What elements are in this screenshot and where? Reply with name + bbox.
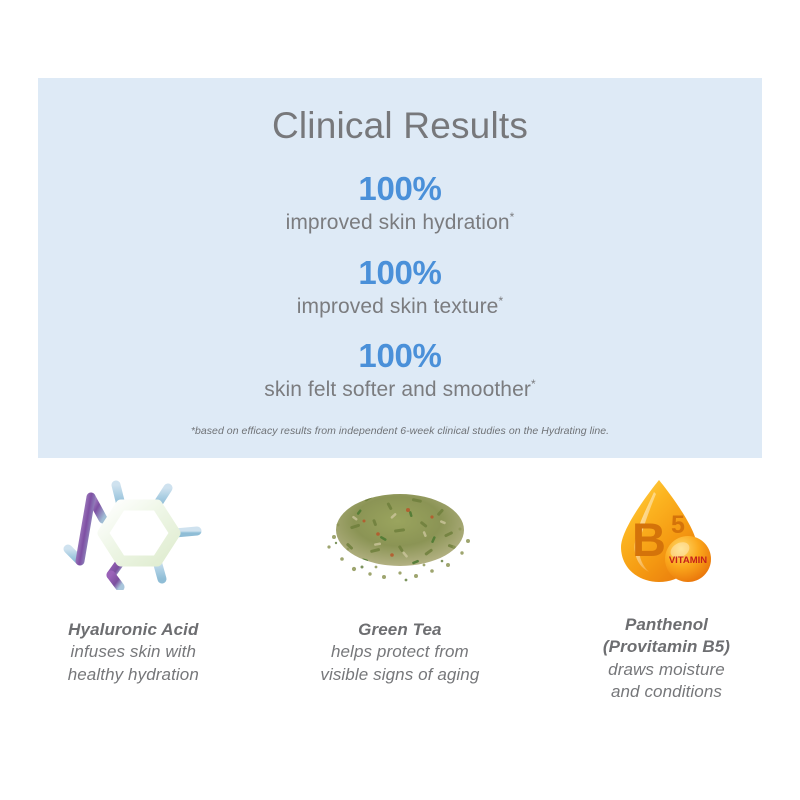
stat-label: improved skin hydration* [38, 210, 762, 236]
ingredient-name-subtitle: (Provitamin B5) [533, 636, 800, 658]
stat-label-text: skin felt softer and smoother [264, 378, 531, 401]
stat-superscript: * [510, 210, 515, 224]
ingredients-row: Hyaluronic Acid infuses skin with health… [0, 470, 800, 704]
ingredient-desc-line: healthy hydration [0, 664, 267, 686]
vitamin-badge-label: VITAMIN [669, 555, 707, 566]
stat-superscript: * [498, 294, 503, 308]
stat-value: 100% [38, 337, 762, 376]
svg-text:B: B [633, 513, 667, 566]
stat-block-softness: 100% skin felt softer and smoother* [38, 337, 762, 403]
stat-label-text: improved skin hydration [286, 211, 510, 234]
ingredient-caption: Hyaluronic Acid infuses skin with health… [0, 619, 267, 686]
ingredient-name: Green Tea [267, 619, 534, 641]
ingredient-caption: Panthenol (Provitamin B5) draws moisture… [533, 614, 800, 704]
stat-label-text: improved skin texture [297, 295, 499, 318]
ingredient-name: Hyaluronic Acid [0, 619, 267, 641]
ingredient-name: Panthenol [533, 614, 800, 636]
footnote: *based on efficacy results from independ… [38, 425, 762, 437]
page-title: Clinical Results [38, 78, 762, 148]
stat-value: 100% [38, 254, 762, 293]
stat-label: skin felt softer and smoother* [38, 377, 762, 403]
panthenol-droplet-icon: B 5 VITAMIN [533, 470, 800, 595]
ingredient-desc-line: helps protect from [267, 641, 534, 663]
hyaluronic-acid-molecule-icon [0, 470, 267, 595]
ingredient-hyaluronic-acid: Hyaluronic Acid infuses skin with health… [0, 470, 267, 704]
ingredient-desc-line: draws moisture [533, 659, 800, 681]
green-tea-leaves-icon [267, 470, 534, 595]
ingredient-desc-line: and conditions [533, 681, 800, 703]
stat-block-hydration: 100% improved skin hydration* [38, 170, 762, 236]
clinical-results-panel: Clinical Results 100% improved skin hydr… [38, 78, 762, 458]
stat-block-texture: 100% improved skin texture* [38, 254, 762, 320]
ingredient-green-tea: Green Tea helps protect from visible sig… [267, 470, 534, 704]
ingredient-desc-line: infuses skin with [0, 641, 267, 663]
stat-label: improved skin texture* [38, 294, 762, 320]
ingredient-panthenol: B 5 VITAMIN Panthenol (Provitamin B5) dr… [533, 470, 800, 704]
stat-value: 100% [38, 170, 762, 209]
ingredient-desc-line: visible signs of aging [267, 664, 534, 686]
stat-superscript: * [531, 377, 536, 391]
svg-text:5: 5 [671, 511, 685, 539]
ingredient-caption: Green Tea helps protect from visible sig… [267, 619, 534, 686]
